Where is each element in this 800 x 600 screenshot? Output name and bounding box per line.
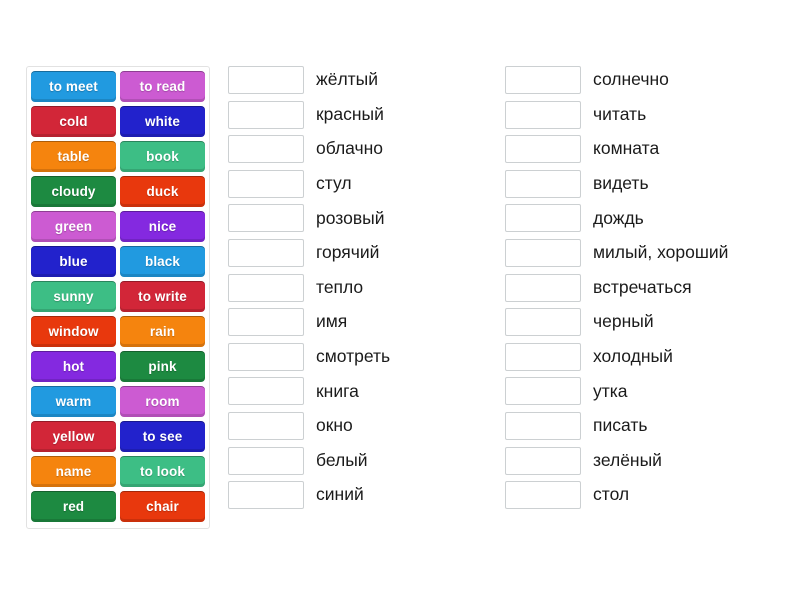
answer-label: тепло (316, 279, 363, 297)
answer-label: писать (593, 417, 647, 435)
drop-target[interactable] (228, 66, 304, 94)
word-tile[interactable]: window (31, 316, 116, 347)
word-tile[interactable]: rain (120, 316, 205, 347)
word-tile[interactable]: warm (31, 386, 116, 417)
word-tile[interactable]: to read (120, 71, 205, 102)
word-tile[interactable]: sunny (31, 281, 116, 312)
answer-label: розовый (316, 210, 384, 228)
answer-label: стол (593, 486, 629, 504)
answer-label: жёлтый (316, 71, 378, 89)
drop-target[interactable] (505, 66, 581, 94)
answer-row: книга (228, 377, 478, 405)
drop-target[interactable] (505, 343, 581, 371)
answer-row: писать (505, 412, 795, 440)
answer-label: милый, хороший (593, 244, 728, 262)
word-tile[interactable]: cold (31, 106, 116, 137)
tile-grid: to meetto readcoldwhitetablebookcloudydu… (31, 71, 205, 522)
answer-column-left: жёлтыйкрасныйоблачностулрозовыйгорячийте… (228, 66, 478, 509)
drop-target[interactable] (228, 274, 304, 302)
word-tile[interactable]: white (120, 106, 205, 137)
answer-row: комната (505, 135, 795, 163)
answer-label: синий (316, 486, 364, 504)
answer-row: окно (228, 412, 478, 440)
answer-label: горячий (316, 244, 379, 262)
answer-row: видеть (505, 170, 795, 198)
answer-label: смотреть (316, 348, 390, 366)
answer-row: стол (505, 481, 795, 509)
answer-row: читать (505, 101, 795, 129)
drop-target[interactable] (505, 308, 581, 336)
answer-row: имя (228, 308, 478, 336)
answer-row: тепло (228, 274, 478, 302)
drop-target[interactable] (505, 377, 581, 405)
word-tile[interactable]: pink (120, 351, 205, 382)
answer-row: розовый (228, 204, 478, 232)
word-tile[interactable]: book (120, 141, 205, 172)
word-tile[interactable]: chair (120, 491, 205, 522)
drop-target[interactable] (505, 412, 581, 440)
answer-label: утка (593, 383, 628, 401)
drop-target[interactable] (228, 170, 304, 198)
answer-label: солнечно (593, 71, 669, 89)
answer-label: белый (316, 452, 368, 470)
answer-label: дождь (593, 210, 644, 228)
answer-label: комната (593, 140, 659, 158)
answer-label: встречаться (593, 279, 692, 297)
answer-row: горячий (228, 239, 478, 267)
answer-label: книга (316, 383, 359, 401)
drop-target[interactable] (228, 308, 304, 336)
word-tile[interactable]: black (120, 246, 205, 277)
word-tile[interactable]: to write (120, 281, 205, 312)
answer-row: жёлтый (228, 66, 478, 94)
drop-target[interactable] (228, 204, 304, 232)
word-tile[interactable]: room (120, 386, 205, 417)
drop-target[interactable] (228, 239, 304, 267)
drop-target[interactable] (505, 204, 581, 232)
answer-label: зелёный (593, 452, 662, 470)
answer-row: облачно (228, 135, 478, 163)
english-word-tile-bank: to meetto readcoldwhitetablebookcloudydu… (26, 66, 210, 529)
answer-row: холодный (505, 343, 795, 371)
drop-target[interactable] (505, 274, 581, 302)
answer-label: облачно (316, 140, 383, 158)
answer-label: видеть (593, 175, 649, 193)
word-tile[interactable]: table (31, 141, 116, 172)
word-tile[interactable]: nice (120, 211, 205, 242)
answer-row: синий (228, 481, 478, 509)
answer-label: холодный (593, 348, 673, 366)
drop-target[interactable] (505, 447, 581, 475)
drop-target[interactable] (228, 101, 304, 129)
drop-target[interactable] (228, 135, 304, 163)
answer-row: смотреть (228, 343, 478, 371)
answer-row: черный (505, 308, 795, 336)
answer-label: стул (316, 175, 352, 193)
answer-label: черный (593, 313, 654, 331)
drop-target[interactable] (505, 481, 581, 509)
word-tile[interactable]: duck (120, 176, 205, 207)
answer-row: солнечно (505, 66, 795, 94)
word-tile[interactable]: name (31, 456, 116, 487)
word-tile[interactable]: to see (120, 421, 205, 452)
word-tile[interactable]: red (31, 491, 116, 522)
word-tile[interactable]: hot (31, 351, 116, 382)
answer-label: имя (316, 313, 347, 331)
word-tile[interactable]: cloudy (31, 176, 116, 207)
drop-target[interactable] (505, 101, 581, 129)
word-tile[interactable]: green (31, 211, 116, 242)
word-tile[interactable]: yellow (31, 421, 116, 452)
answer-row: дождь (505, 204, 795, 232)
word-tile[interactable]: to meet (31, 71, 116, 102)
answer-label: красный (316, 106, 384, 124)
answer-row: встречаться (505, 274, 795, 302)
answer-label: читать (593, 106, 646, 124)
answer-row: милый, хороший (505, 239, 795, 267)
drop-target[interactable] (228, 343, 304, 371)
answer-row: зелёный (505, 447, 795, 475)
answer-label: окно (316, 417, 353, 435)
drop-target[interactable] (505, 135, 581, 163)
drop-target[interactable] (228, 412, 304, 440)
drop-target[interactable] (228, 447, 304, 475)
answer-row: белый (228, 447, 478, 475)
drop-target[interactable] (505, 239, 581, 267)
activity-canvas: to meetto readcoldwhitetablebookcloudydu… (0, 0, 800, 600)
drop-target[interactable] (228, 481, 304, 509)
answer-column-right: солнечночитатькомнатавидетьдождьмилый, х… (505, 66, 795, 509)
word-tile[interactable]: to look (120, 456, 205, 487)
word-tile[interactable]: blue (31, 246, 116, 277)
drop-target[interactable] (505, 170, 581, 198)
answer-row: красный (228, 101, 478, 129)
drop-target[interactable] (228, 377, 304, 405)
answer-row: утка (505, 377, 795, 405)
answer-row: стул (228, 170, 478, 198)
